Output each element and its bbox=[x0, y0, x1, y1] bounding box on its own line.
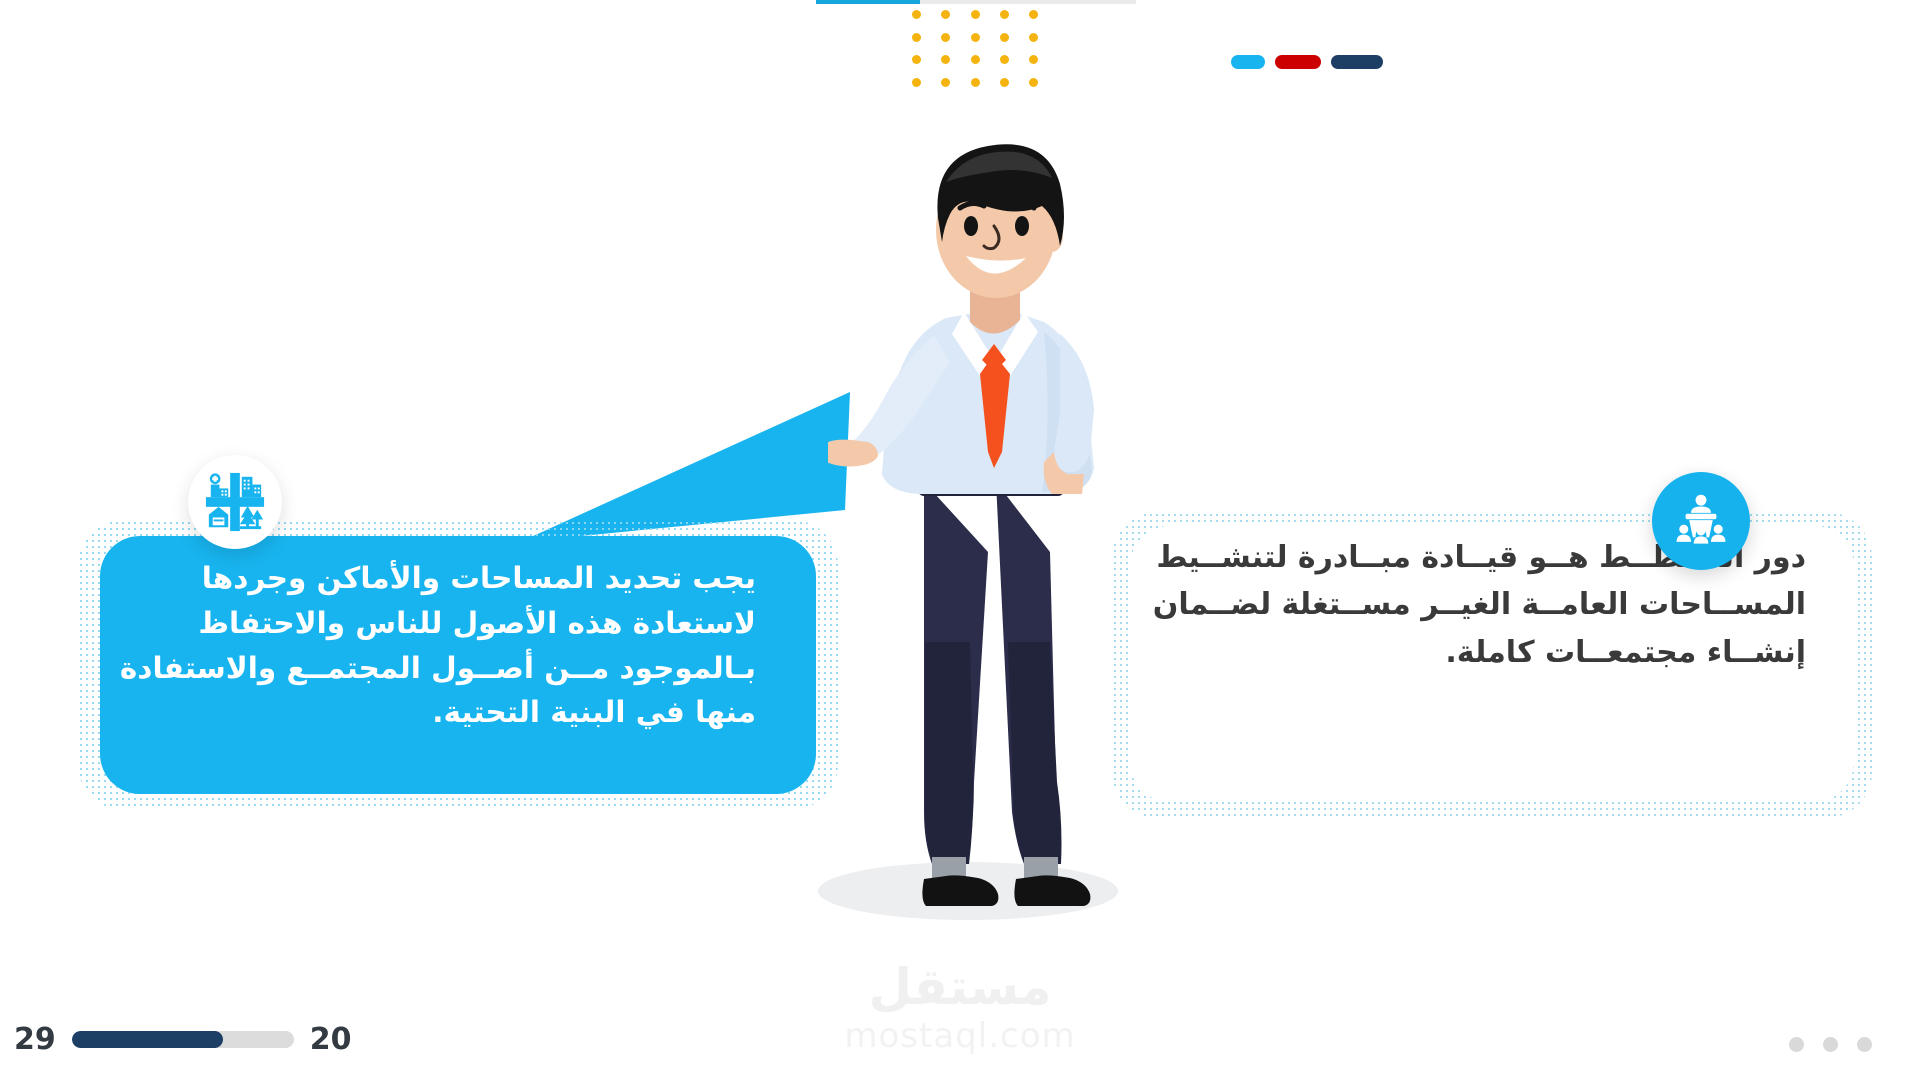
presenter-audience-icon bbox=[1652, 472, 1750, 570]
top-rule-accent bbox=[816, 0, 920, 4]
corner-pill-decoration bbox=[1231, 55, 1383, 69]
slide-nav-dots[interactable] bbox=[1789, 1037, 1872, 1052]
nav-dot-2[interactable] bbox=[1823, 1037, 1838, 1052]
progress-bar[interactable] bbox=[72, 1031, 294, 1048]
slide-canvas: يجب تحديد المساحات والأماكن وجردها لاستع… bbox=[0, 0, 1920, 1080]
callout-right[interactable]: دور المخطــط هــو قيــادة مبــادرة لتنشـ… bbox=[1112, 512, 1872, 818]
watermark-latin: mostaql.com bbox=[810, 1016, 1110, 1056]
callout-left[interactable]: يجب تحديد المساحات والأماكن وجردها لاستع… bbox=[78, 520, 838, 810]
page-progress: 20 29 bbox=[14, 1022, 352, 1057]
current-page-number: 20 bbox=[310, 1022, 352, 1057]
pill-cyan-icon bbox=[1231, 55, 1265, 69]
city-planning-icon bbox=[188, 455, 282, 549]
amber-dot-grid bbox=[892, 10, 1038, 100]
nav-dot-1[interactable] bbox=[1857, 1037, 1872, 1052]
callout-left-text: يجب تحديد المساحات والأماكن وجردها لاستع… bbox=[116, 556, 756, 735]
pill-red-icon bbox=[1275, 55, 1321, 69]
businessman-illustration bbox=[828, 122, 1158, 922]
pill-navy-icon bbox=[1331, 55, 1383, 69]
nav-dot-3[interactable] bbox=[1789, 1037, 1804, 1052]
watermark-arabic: مستقل bbox=[810, 962, 1110, 1012]
mostaql-watermark: مستقل mostaql.com bbox=[810, 962, 1110, 1056]
progress-bar-fill bbox=[72, 1031, 223, 1048]
total-page-number: 29 bbox=[14, 1022, 56, 1057]
